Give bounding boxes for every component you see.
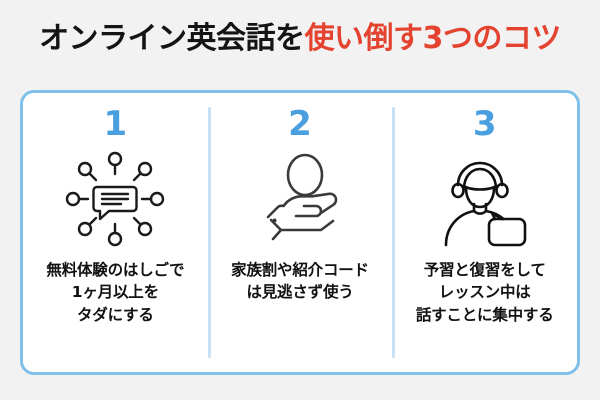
page-title-black-part: オンライン英会話を (39, 22, 305, 57)
page-title-red-part: 使い倒す3つのコツ (305, 22, 561, 57)
poster-root: オンライン英会話を使い倒す3つのコツ 1 (0, 0, 600, 400)
speech-bubble-network-icon (59, 147, 171, 251)
hand-holding-person-icon (244, 147, 356, 251)
tip-caption-1: 無料体験のはしごで 1ヶ月以上を タダにする (46, 259, 184, 326)
page-title: オンライン英会話を使い倒す3つのコツ (0, 22, 600, 57)
tip-column-3: 3 (392, 93, 577, 372)
person-headphones-speech-icon (429, 147, 541, 251)
tip-caption-2: 家族割や紹介コード は見逃さず使う (231, 259, 369, 304)
tip-caption-3: 予習と復習をして レッスン中は 話すことに集中する (416, 259, 554, 326)
tip-column-1: 1 (23, 93, 208, 372)
tip-number-3: 3 (473, 107, 497, 141)
tip-column-2: 2 家族割や紹介 (208, 93, 393, 372)
tip-number-1: 1 (104, 107, 128, 141)
tips-card: 1 (20, 90, 580, 375)
tip-number-2: 2 (288, 107, 312, 141)
